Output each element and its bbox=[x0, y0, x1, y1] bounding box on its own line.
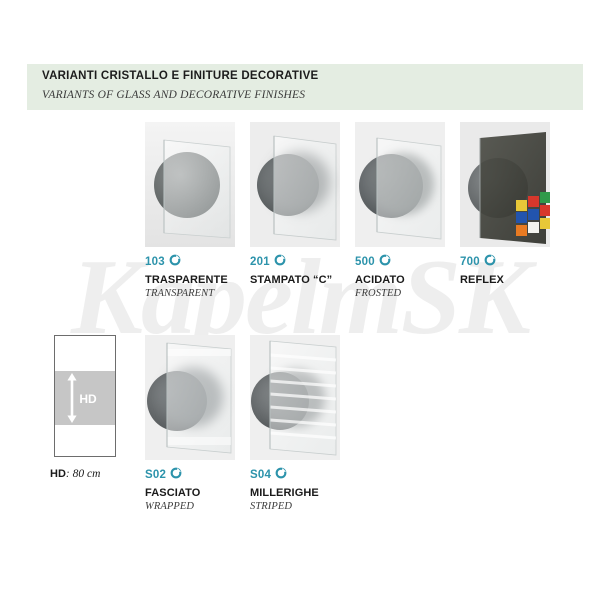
finish-code: S04 bbox=[250, 469, 271, 481]
hd-diagram: HD bbox=[54, 335, 116, 457]
finish-code: 700 bbox=[460, 256, 480, 268]
finish-code: 103 bbox=[145, 256, 165, 268]
glass-ring-icon bbox=[274, 253, 286, 271]
code-row: S04 bbox=[250, 467, 340, 483]
finish-name-en: STRIPED bbox=[250, 501, 340, 512]
swatch-frosted bbox=[355, 122, 445, 247]
code-row: 500 bbox=[355, 254, 445, 270]
swatch-striped bbox=[250, 335, 340, 460]
finish-name-it: REFLEX bbox=[460, 274, 550, 286]
finish-name-it: FASCIATO bbox=[145, 487, 235, 499]
glass-ring-icon bbox=[379, 253, 391, 271]
swatch-transparent bbox=[145, 122, 235, 247]
finish-name-it: TRASPARENTE bbox=[145, 274, 235, 286]
finish-code: 500 bbox=[355, 256, 375, 268]
finish-card-S04[interactable]: S04 MILLERIGHE STRIPED bbox=[250, 335, 340, 512]
finish-code: S02 bbox=[145, 469, 166, 481]
finish-card-103[interactable]: 103 TRASPARENTE TRANSPARENT bbox=[145, 122, 235, 299]
glass-ring-icon bbox=[170, 466, 182, 484]
finish-card-700[interactable]: 700 REFLEX bbox=[460, 122, 550, 288]
finish-name-it: STAMPATO “C” bbox=[250, 274, 340, 286]
code-row: 201 bbox=[250, 254, 340, 270]
code-row: S02 bbox=[145, 467, 235, 483]
page-subtitle: VARIANTS OF GLASS AND DECORATIVE FINISHE… bbox=[42, 89, 305, 101]
glass-ring-icon bbox=[484, 253, 496, 271]
hd-caption-value: : 80 cm bbox=[66, 468, 101, 480]
glass-ring-icon bbox=[275, 466, 287, 484]
svg-text:HD: HD bbox=[79, 392, 97, 406]
swatch-reflex bbox=[460, 122, 550, 247]
swatch-wrapped bbox=[145, 335, 235, 460]
hd-caption: HD: 80 cm bbox=[50, 468, 100, 480]
finish-card-500[interactable]: 500 ACIDATO FROSTED bbox=[355, 122, 445, 299]
finish-name-en: TRANSPARENT bbox=[145, 288, 235, 299]
code-row: 700 bbox=[460, 254, 550, 270]
finish-name-en: FROSTED bbox=[355, 288, 445, 299]
finish-card-S02[interactable]: S02 FASCIATO WRAPPED bbox=[145, 335, 235, 512]
swatch-patterned bbox=[250, 122, 340, 247]
finish-code: 201 bbox=[250, 256, 270, 268]
finish-name-it: ACIDATO bbox=[355, 274, 445, 286]
hd-caption-label: HD bbox=[50, 468, 66, 480]
page-title: VARIANTI CRISTALLO E FINITURE DECORATIVE bbox=[42, 70, 318, 82]
code-row: 103 bbox=[145, 254, 235, 270]
finish-name-en: WRAPPED bbox=[145, 501, 235, 512]
hd-band: HD bbox=[55, 371, 115, 425]
catalog-page: VARIANTI CRISTALLO E FINITURE DECORATIVE… bbox=[0, 0, 600, 600]
glass-ring-icon bbox=[169, 253, 181, 271]
finish-name-it: MILLERIGHE bbox=[250, 487, 340, 499]
finish-card-201[interactable]: 201 STAMPATO “C” bbox=[250, 122, 340, 288]
